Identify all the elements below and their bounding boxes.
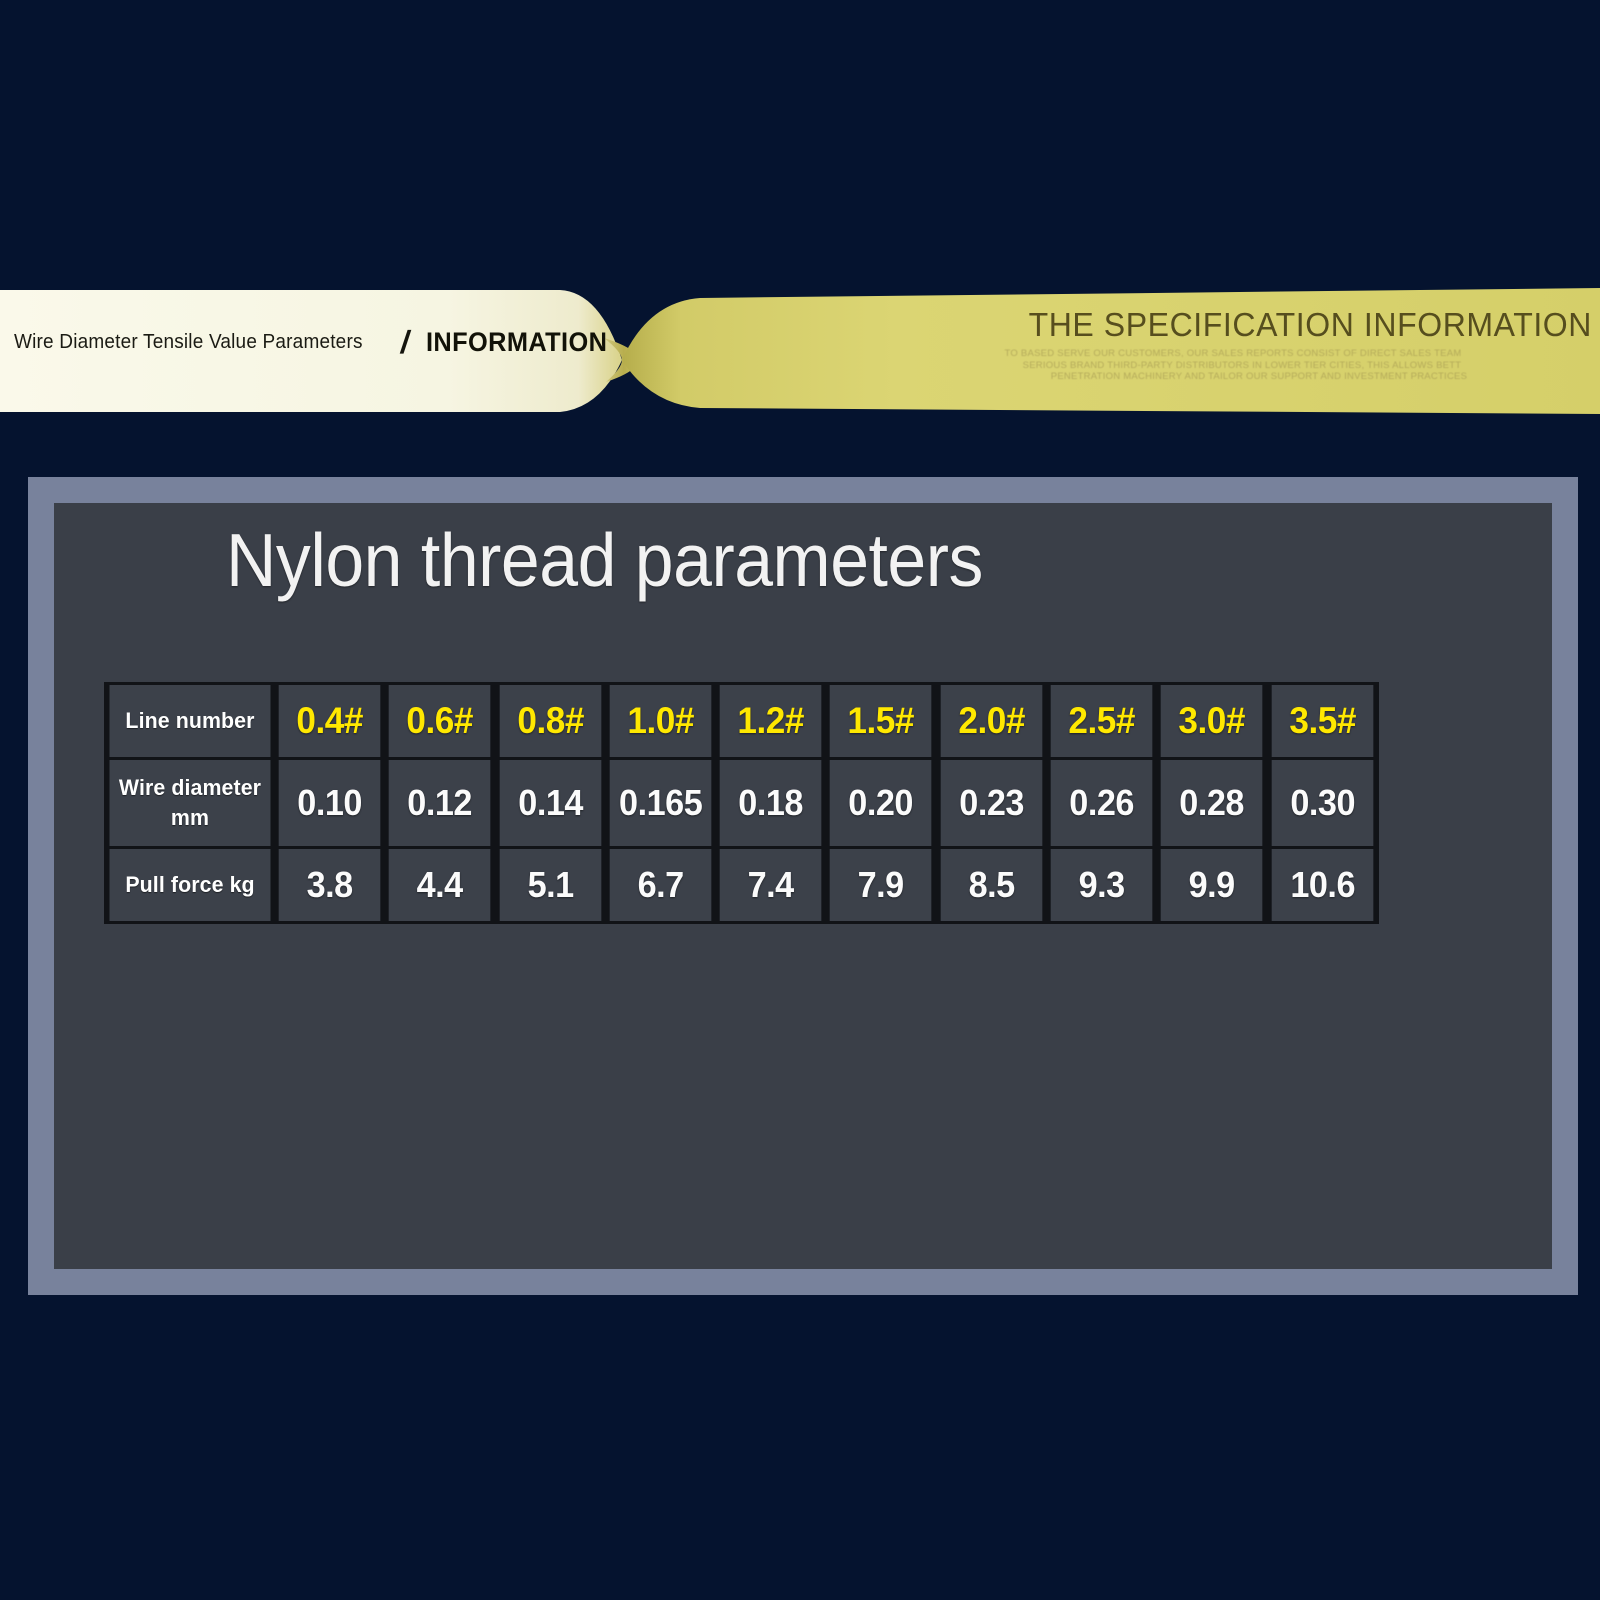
cell-wire-diameter-0: 0.10 xyxy=(279,760,381,846)
cell-wire-diameter-4: 0.18 xyxy=(720,760,822,846)
cell-line-number-0: 0.4# xyxy=(279,685,381,757)
cell-line-number-3: 1.0# xyxy=(610,685,712,757)
table-row-line-number: Line number 0.4# 0.6# 0.8# 1.0# 1.2# 1.5… xyxy=(107,685,1376,757)
cell-pull-force-0: 3.8 xyxy=(279,849,381,921)
specification-headline: THE SPECIFICATION INFORMATION xyxy=(855,306,1592,344)
row-header-pull-force-label: Pull force kg xyxy=(125,872,254,897)
nylon-thread-table-wrapper: Line number 0.4# 0.6# 0.8# 1.0# 1.2# 1.5… xyxy=(104,682,1379,924)
cell-pull-force-7: 9.3 xyxy=(1051,849,1153,921)
table-row-pull-force: Pull force kg 3.8 4.4 5.1 6.7 7.4 7.9 8.… xyxy=(107,849,1376,921)
cell-wire-diameter-2: 0.14 xyxy=(499,760,601,846)
specification-fineprint: TO BASED SERVE OUR CUSTOMERS, OUR SALES … xyxy=(832,348,1592,383)
cell-pull-force-8: 9.9 xyxy=(1161,849,1263,921)
parameters-panel: Nylon thread parameters Line number 0.4#… xyxy=(28,477,1578,1295)
page-title: Nylon thread parameters xyxy=(226,517,983,603)
fineprint-line-1: TO BASED SERVE OUR CUSTOMERS, OUR SALES … xyxy=(874,348,1592,360)
cell-line-number-2: 0.8# xyxy=(499,685,601,757)
fineprint-line-2: SERIOUS BRAND THIRD-PARTY DISTRIBUTORS I… xyxy=(874,360,1592,372)
row-header-line-number: Line number xyxy=(109,685,270,757)
cell-line-number-7: 2.5# xyxy=(1051,685,1153,757)
cell-line-number-1: 0.6# xyxy=(389,685,491,757)
banner-left-text-group: Wire Diameter Tensile Value Parameters /… xyxy=(14,322,594,362)
cell-line-number-9: 3.5# xyxy=(1271,685,1373,757)
cell-line-number-8: 3.0# xyxy=(1161,685,1263,757)
cell-wire-diameter-8: 0.28 xyxy=(1161,760,1263,846)
banner-title: INFORMATION xyxy=(426,327,607,358)
row-header-line-number-label: Line number xyxy=(125,708,254,733)
banner-separator-slash: / xyxy=(399,326,412,358)
banner-subtitle: Wire Diameter Tensile Value Parameters xyxy=(14,331,363,354)
parameters-panel-inner: Nylon thread parameters Line number 0.4#… xyxy=(54,503,1552,1269)
cell-pull-force-3: 6.7 xyxy=(610,849,712,921)
cell-wire-diameter-9: 0.30 xyxy=(1271,760,1373,846)
row-header-wire-diameter-label: Wire diameter xyxy=(109,773,270,803)
cell-wire-diameter-7: 0.26 xyxy=(1051,760,1153,846)
banner-right-text-group: THE SPECIFICATION INFORMATION TO BASED S… xyxy=(832,306,1592,383)
cell-line-number-4: 1.2# xyxy=(720,685,822,757)
nylon-thread-parameters-table: Line number 0.4# 0.6# 0.8# 1.0# 1.2# 1.5… xyxy=(104,682,1379,924)
cell-pull-force-9: 10.6 xyxy=(1271,849,1373,921)
row-header-wire-diameter-unit: mm xyxy=(109,803,270,833)
row-header-wire-diameter: Wire diameter mm xyxy=(109,760,270,846)
row-header-pull-force: Pull force kg xyxy=(109,849,270,921)
table-row-wire-diameter: Wire diameter mm 0.10 0.12 0.14 0.165 0.… xyxy=(107,760,1376,846)
cell-pull-force-5: 7.9 xyxy=(830,849,932,921)
cell-wire-diameter-1: 0.12 xyxy=(389,760,491,846)
cell-wire-diameter-5: 0.20 xyxy=(830,760,932,846)
cell-pull-force-6: 8.5 xyxy=(940,849,1042,921)
cell-line-number-6: 2.0# xyxy=(940,685,1042,757)
cell-pull-force-1: 4.4 xyxy=(389,849,491,921)
specification-banner: Wire Diameter Tensile Value Parameters /… xyxy=(0,286,1600,416)
cell-pull-force-2: 5.1 xyxy=(499,849,601,921)
fineprint-line-3: PENETRATION MACHINERY AND TAILOR OUR SUP… xyxy=(874,371,1592,383)
cell-line-number-5: 1.5# xyxy=(830,685,932,757)
cell-pull-force-4: 7.4 xyxy=(720,849,822,921)
cell-wire-diameter-3: 0.165 xyxy=(610,760,712,846)
cell-wire-diameter-6: 0.23 xyxy=(940,760,1042,846)
